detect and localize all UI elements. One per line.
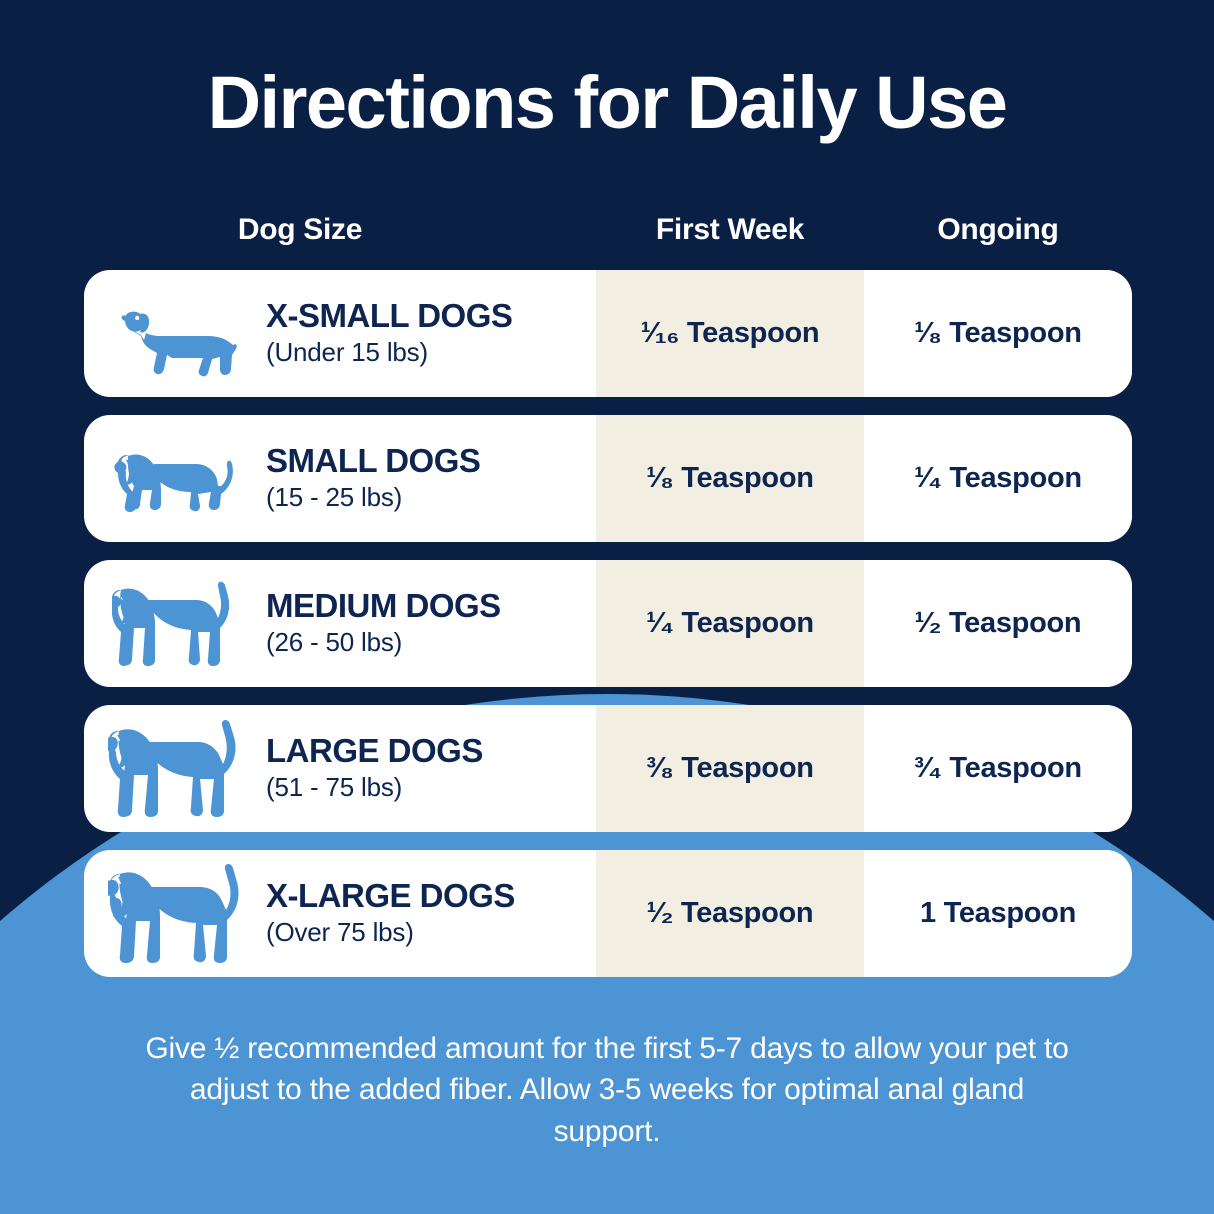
footer-note: Give ½ recommended amount for the first … bbox=[137, 1028, 1077, 1152]
first-week-dose: ³⁄₈ Teaspoon bbox=[596, 705, 864, 832]
dog-size-cell: SMALL DOGS (15 - 25 lbs) bbox=[84, 415, 596, 542]
table-row: X-SMALL DOGS (Under 15 lbs) ¹⁄₁₆ Teaspoo… bbox=[84, 270, 1132, 397]
table-row: LARGE DOGS (51 - 75 lbs) ³⁄₈ Teaspoon ³⁄… bbox=[84, 705, 1132, 832]
ongoing-dose: ³⁄₄ Teaspoon bbox=[864, 705, 1132, 832]
basset-hound-dog-icon bbox=[108, 424, 248, 534]
dog-size-text: LARGE DOGS (51 - 75 lbs) bbox=[248, 734, 483, 803]
dog-size-name: X-LARGE DOGS bbox=[266, 879, 515, 914]
dog-weight-range: (51 - 75 lbs) bbox=[266, 772, 483, 803]
ongoing-dose: ¹⁄₄ Teaspoon bbox=[864, 415, 1132, 542]
table-row: SMALL DOGS (15 - 25 lbs) ¹⁄₈ Teaspoon ¹⁄… bbox=[84, 415, 1132, 542]
dog-size-name: SMALL DOGS bbox=[266, 444, 480, 479]
dog-weight-range: (Under 15 lbs) bbox=[266, 337, 512, 368]
ongoing-dose: 1 Teaspoon bbox=[864, 850, 1132, 977]
first-week-dose: ¹⁄₈ Teaspoon bbox=[596, 415, 864, 542]
first-week-dose: ¹⁄₄ Teaspoon bbox=[596, 560, 864, 687]
bloodhound-dog-icon bbox=[108, 859, 248, 969]
column-header-ongoing: Ongoing bbox=[864, 213, 1132, 247]
dog-size-cell: MEDIUM DOGS (26 - 50 lbs) bbox=[84, 560, 596, 687]
column-header-first-week: First Week bbox=[596, 213, 864, 247]
dog-weight-range: (26 - 50 lbs) bbox=[266, 627, 501, 658]
ongoing-dose: ¹⁄₈ Teaspoon bbox=[864, 270, 1132, 397]
labrador-dog-icon bbox=[108, 714, 248, 824]
first-week-dose: ¹⁄₂ Teaspoon bbox=[596, 850, 864, 977]
table-column-headers: Dog Size First Week Ongoing bbox=[84, 206, 1132, 254]
dog-size-name: LARGE DOGS bbox=[266, 734, 483, 769]
dog-size-text: X-LARGE DOGS (Over 75 lbs) bbox=[248, 879, 515, 948]
column-header-dog-size: Dog Size bbox=[84, 213, 596, 247]
dog-size-cell: X-LARGE DOGS (Over 75 lbs) bbox=[84, 850, 596, 977]
dosage-table: X-SMALL DOGS (Under 15 lbs) ¹⁄₁₆ Teaspoo… bbox=[84, 270, 1132, 995]
dog-size-text: MEDIUM DOGS (26 - 50 lbs) bbox=[248, 589, 501, 658]
dachshund-dog-icon bbox=[108, 279, 248, 389]
dog-weight-range: (Over 75 lbs) bbox=[266, 917, 515, 948]
dog-size-name: MEDIUM DOGS bbox=[266, 589, 501, 624]
directions-for-daily-use-page: Directions for Daily Use Dog Size First … bbox=[0, 0, 1214, 1214]
page-title: Directions for Daily Use bbox=[0, 66, 1214, 140]
dog-size-name: X-SMALL DOGS bbox=[266, 299, 512, 334]
table-row: MEDIUM DOGS (26 - 50 lbs) ¹⁄₄ Teaspoon ¹… bbox=[84, 560, 1132, 687]
dog-weight-range: (15 - 25 lbs) bbox=[266, 482, 480, 513]
table-row: X-LARGE DOGS (Over 75 lbs) ¹⁄₂ Teaspoon … bbox=[84, 850, 1132, 977]
dog-size-text: SMALL DOGS (15 - 25 lbs) bbox=[248, 444, 480, 513]
beagle-dog-icon bbox=[108, 569, 248, 679]
first-week-dose: ¹⁄₁₆ Teaspoon bbox=[596, 270, 864, 397]
dog-size-text: X-SMALL DOGS (Under 15 lbs) bbox=[248, 299, 512, 368]
ongoing-dose: ¹⁄₂ Teaspoon bbox=[864, 560, 1132, 687]
dog-size-cell: LARGE DOGS (51 - 75 lbs) bbox=[84, 705, 596, 832]
dog-size-cell: X-SMALL DOGS (Under 15 lbs) bbox=[84, 270, 596, 397]
